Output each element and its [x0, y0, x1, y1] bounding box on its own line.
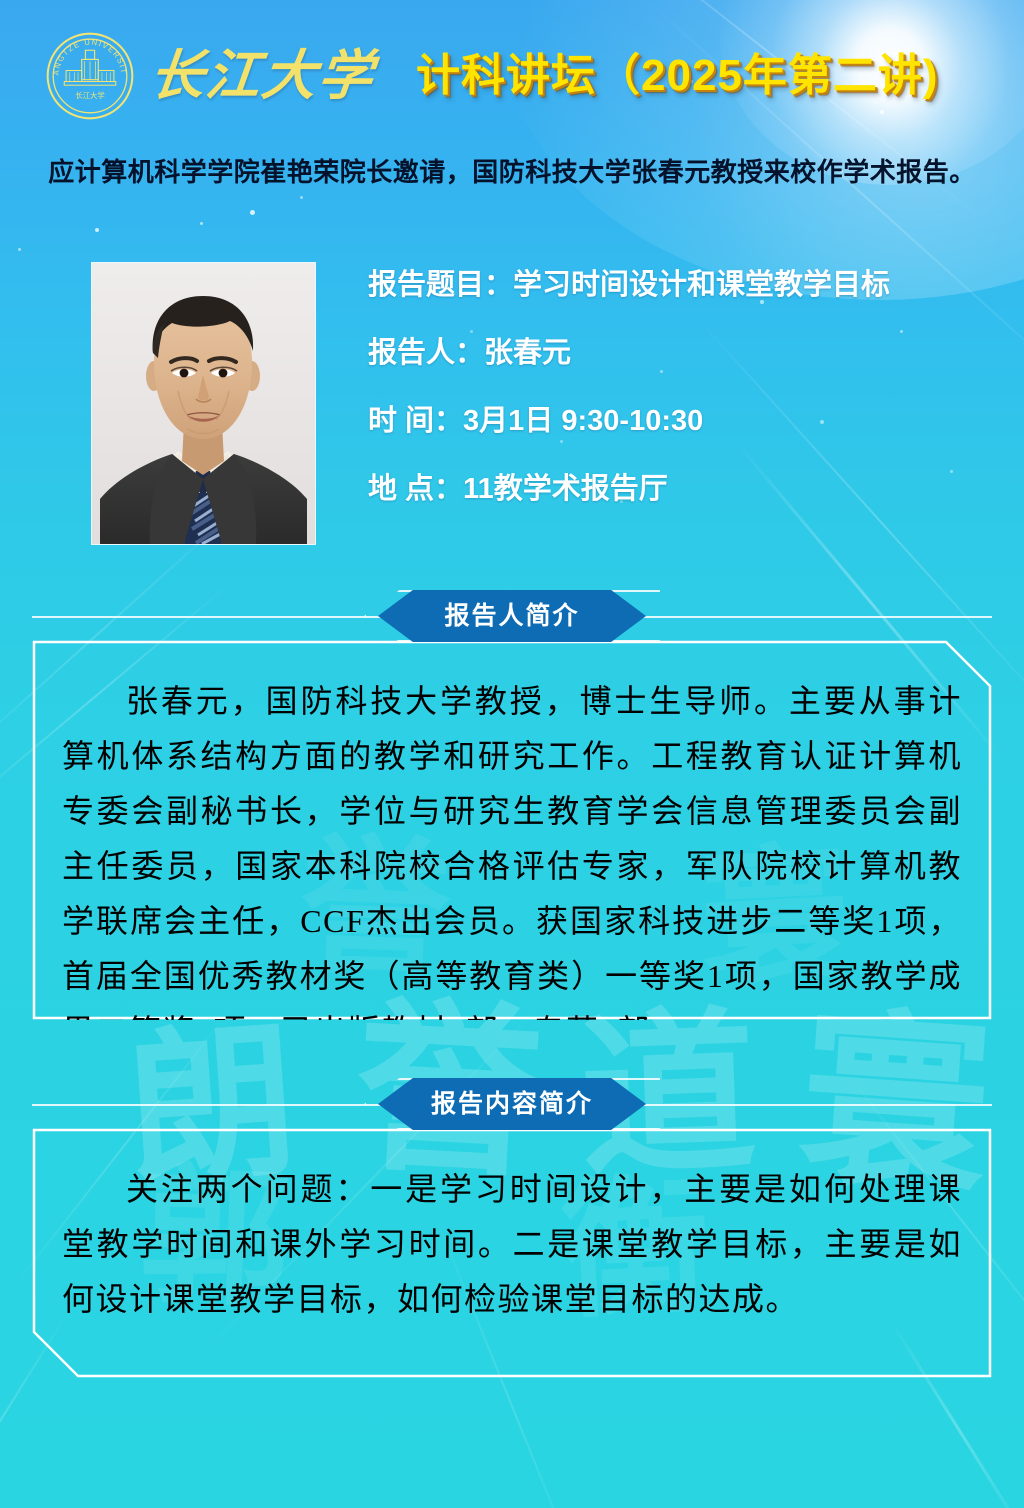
abstract-section: 报告内容简介 关注两个问题：一是学习时间设计，主要是如何处理课堂教学时间和课外学… — [0, 1078, 1024, 1378]
svg-text:YANGTZE UNIVERSITY: YANGTZE UNIVERSITY — [44, 30, 128, 76]
banner-rule-left — [32, 616, 386, 618]
speaker-photo — [92, 263, 315, 544]
university-name: 长江大学 — [147, 49, 377, 103]
abstract-banner: 报告内容简介 — [378, 1078, 646, 1130]
bio-text: 张春元，国防科技大学教授，博士生导师。主要从事计算机体系结构方面的教学和研究工作… — [62, 674, 962, 1059]
bio-banner: 报告人简介 — [378, 590, 646, 642]
bio-banner-label: 报告人简介 — [444, 604, 579, 629]
forum-title: 计科讲坛（2025年第二讲) — [416, 54, 939, 98]
talk-title-line: 报告题目：学习时间设计和课堂教学目标 — [368, 271, 890, 300]
header-subtitle: 应计算机科学学院崔艳荣院长邀请，国防科技大学张春元教授来校作学术报告。 — [0, 152, 1024, 189]
talk-venue-line: 地 点：11教学术报告厅 — [368, 475, 890, 504]
bio-banner-row: 报告人简介 — [0, 590, 1024, 642]
banner-rule-right — [638, 1104, 992, 1106]
talk-details: 报告题目：学习时间设计和课堂教学目标 报告人：张春元 时 间：3月1日 9:30… — [368, 263, 890, 544]
talk-speaker-line: 报告人：张春元 — [368, 339, 890, 368]
yangtze-university-seal-icon: YANGTZE UNIVERSITY — [44, 30, 136, 122]
header-logo-row: YANGTZE UNIVERSITY — [0, 30, 1024, 122]
poster-root: 朗 誉 道 寰 郭 衡 誉 寰 YANGTZE UNIVERSITY — [0, 0, 1024, 1508]
abstract-banner-row: 报告内容简介 — [0, 1078, 1024, 1130]
banner-rule-left — [32, 1104, 386, 1106]
poster-header: YANGTZE UNIVERSITY — [0, 0, 1024, 215]
speaker-bio-section: 报告人简介 张春元，国防科技大学教授，博士生导师。主要从事计算机体系结构方面的教… — [0, 590, 1024, 1020]
svg-text:长江大学: 长江大学 — [75, 91, 104, 100]
bio-content-box: 张春元，国防科技大学教授，博士生导师。主要从事计算机体系结构方面的教学和研究工作… — [32, 640, 992, 1020]
abstract-text: 关注两个问题：一是学习时间设计，主要是如何处理课堂教学时间和课外学习时间。二是课… — [62, 1162, 962, 1327]
banner-rule-right — [638, 616, 992, 618]
talk-time-line: 时 间：3月1日 9:30-10:30 — [368, 407, 890, 436]
abstract-content-box: 关注两个问题：一是学习时间设计，主要是如何处理课堂教学时间和课外学习时间。二是课… — [32, 1128, 992, 1378]
abstract-banner-label: 报告内容简介 — [431, 1092, 593, 1117]
speaker-block: 报告题目：学习时间设计和课堂教学目标 报告人：张春元 时 间：3月1日 9:30… — [0, 215, 1024, 544]
